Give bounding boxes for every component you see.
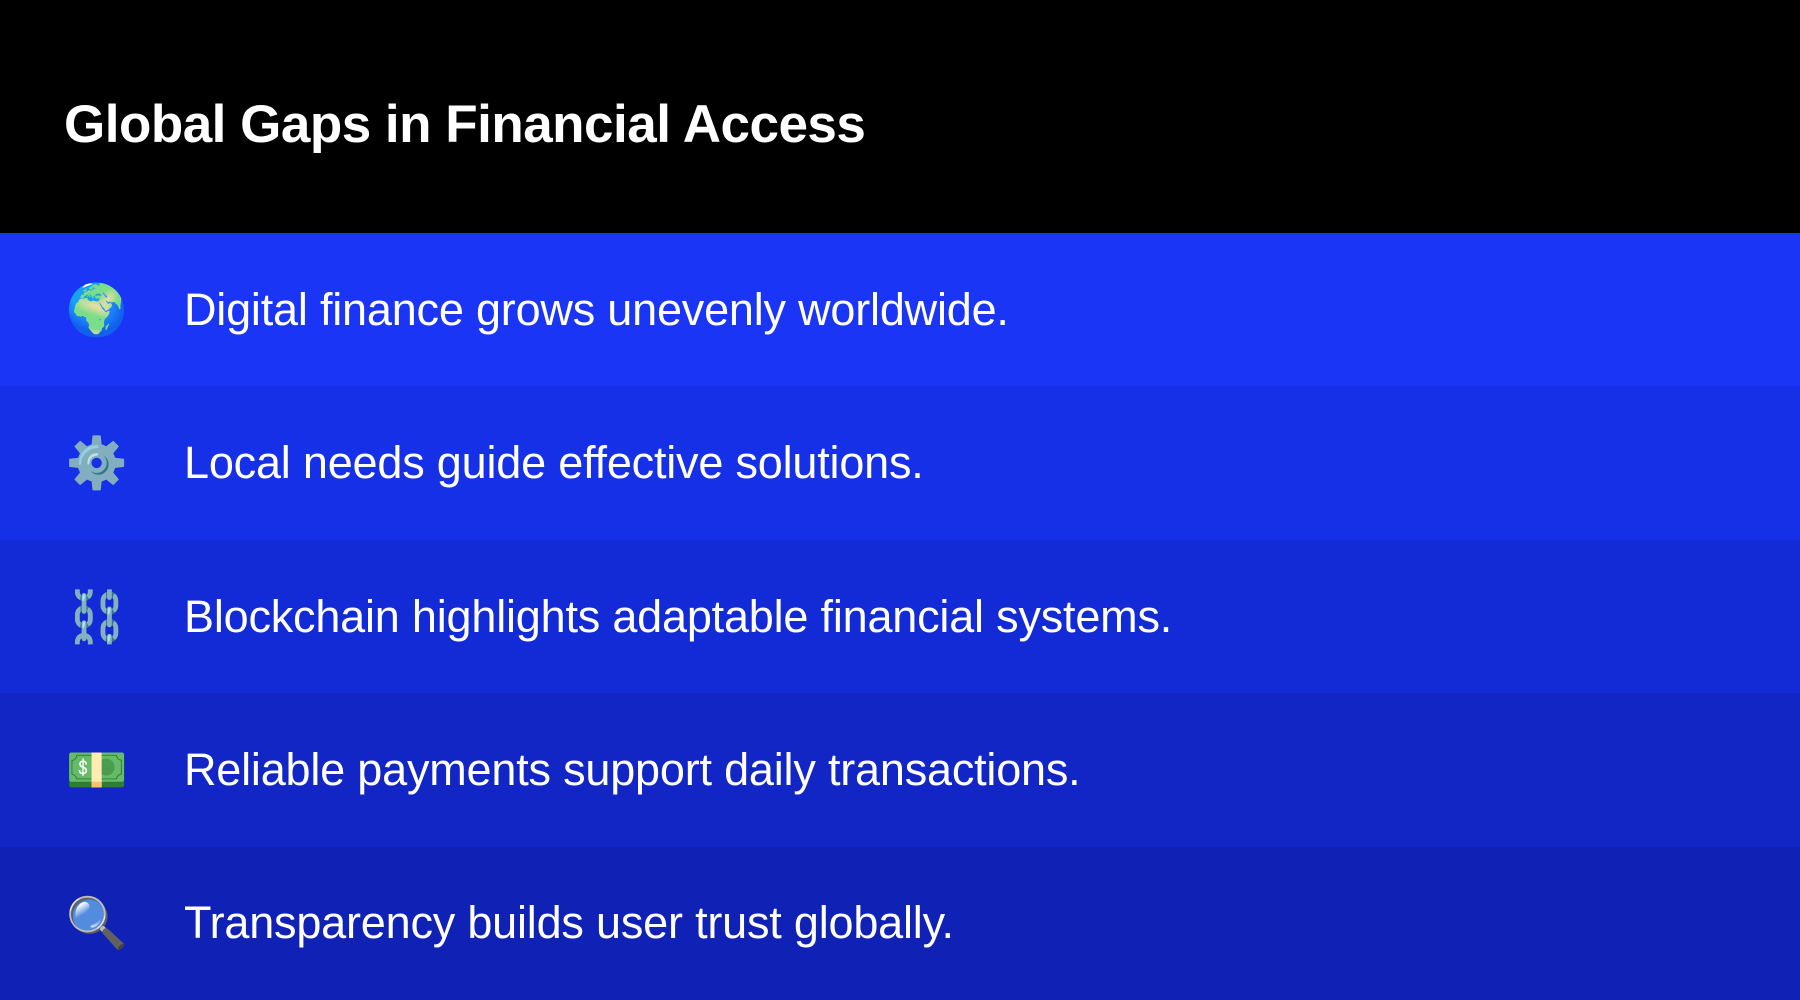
list-item-label: Reliable payments support daily transact… <box>184 743 1080 797</box>
globe-europe-africa-icon: 🌍 <box>64 277 130 343</box>
chains-icon: ⛓️ <box>64 584 130 650</box>
page-title: Global Gaps in Financial Access <box>64 78 865 154</box>
list-item-label: Local needs guide effective solutions. <box>184 436 924 490</box>
slide-header: Global Gaps in Financial Access <box>0 0 1800 233</box>
list-item[interactable]: ⛓️ Blockchain highlights adaptable finan… <box>0 540 1800 693</box>
list-item-label: Digital finance grows unevenly worldwide… <box>184 283 1009 337</box>
magnifying-glass-icon: 🔍 <box>64 890 130 956</box>
list-item[interactable]: ⚙️ Local needs guide effective solutions… <box>0 386 1800 539</box>
slide: Global Gaps in Financial Access 🌍 Digita… <box>0 0 1800 1000</box>
bullet-list: 🌍 Digital finance grows unevenly worldwi… <box>0 233 1800 1000</box>
list-item[interactable]: 🌍 Digital finance grows unevenly worldwi… <box>0 233 1800 386</box>
list-item-label: Blockchain highlights adaptable financia… <box>184 590 1172 644</box>
list-item[interactable]: 💵 Reliable payments support daily transa… <box>0 693 1800 846</box>
gear-icon: ⚙️ <box>64 430 130 496</box>
dollar-banknote-icon: 💵 <box>64 737 130 803</box>
list-item-label: Transparency builds user trust globally. <box>184 896 954 950</box>
list-item[interactable]: 🔍 Transparency builds user trust globall… <box>0 847 1800 1000</box>
